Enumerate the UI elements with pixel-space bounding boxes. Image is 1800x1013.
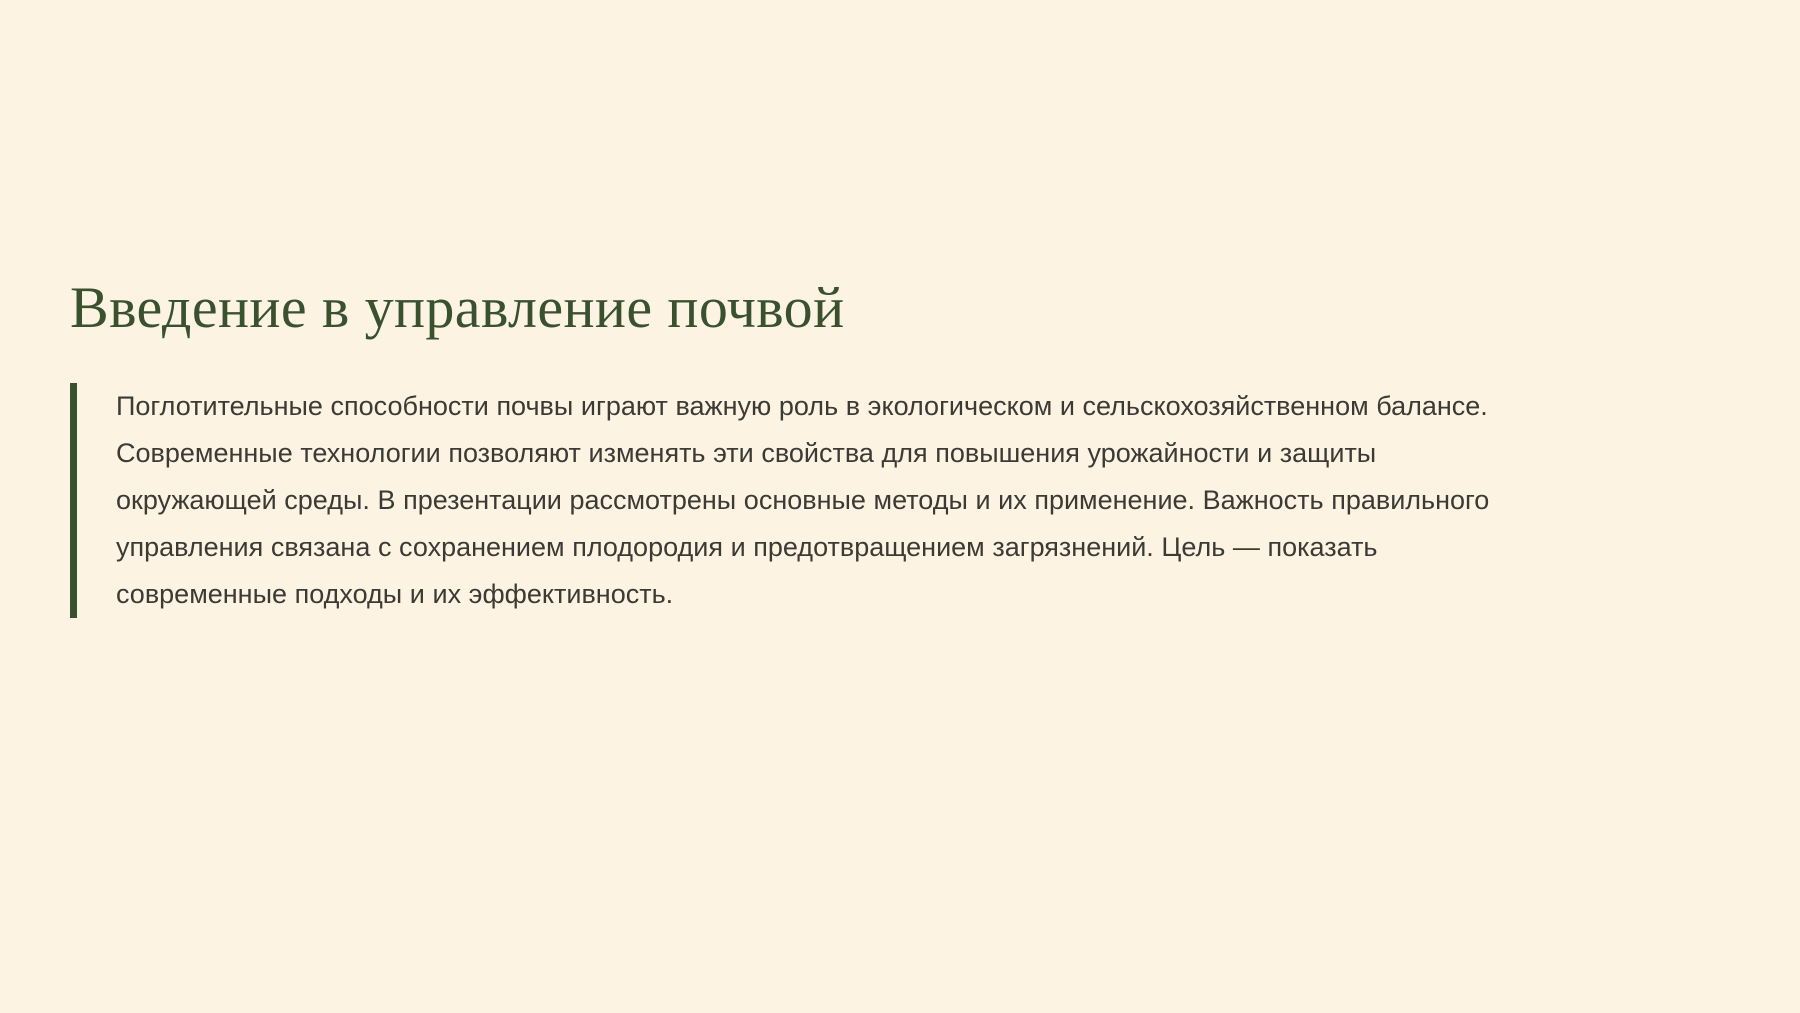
slide-content: Введение в управление почвой Поглотитель… [70,276,1720,618]
page-title: Введение в управление почвой [70,276,1720,341]
presentation-slide: Введение в управление почвой Поглотитель… [0,0,1800,1013]
body-block: Поглотительные способности почвы играют … [70,383,1720,618]
accent-bar [70,383,77,618]
body-paragraph: Поглотительные способности почвы играют … [116,383,1524,618]
